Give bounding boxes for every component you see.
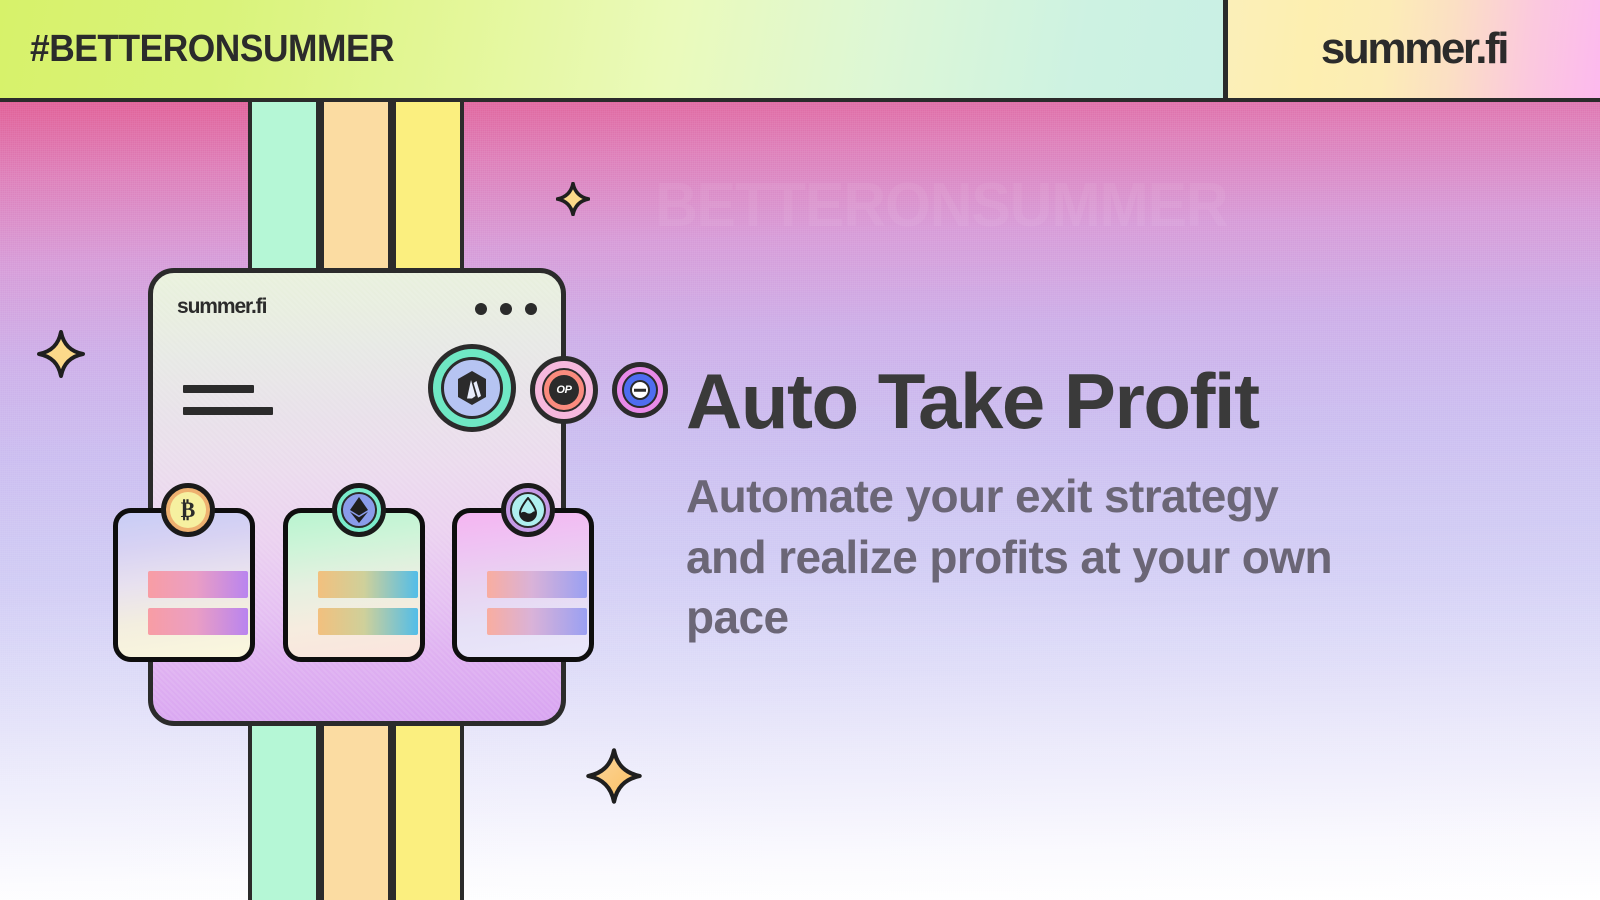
dai-face [510, 492, 546, 528]
menu-line-2 [183, 407, 273, 415]
token-card-bar-2 [487, 608, 587, 635]
copy-block: Auto Take Profit Automate your exit stra… [686, 362, 1366, 648]
bitcoin-coin-icon[interactable]: ₿ [161, 483, 215, 537]
optimism-label: OP [549, 375, 579, 405]
token-card-bar-1 [487, 571, 587, 598]
window-dot-3[interactable] [525, 303, 537, 315]
header-left-panel: #BETTERONSUMMER [0, 0, 1228, 98]
header-right-panel: summer.fi [1228, 0, 1600, 98]
ethereum-diamond-icon [350, 497, 368, 523]
app-window-logo: summer.fi [177, 295, 266, 319]
campaign-hashtag: #BETTERONSUMMER [30, 28, 394, 71]
page-subtitle: Automate your exit strategy and realize … [686, 466, 1366, 648]
header-bar: #BETTERONSUMMER summer.fi [0, 0, 1600, 102]
menu-line-1 [183, 385, 254, 393]
brand-logo: summer.fi [1321, 24, 1507, 74]
token-card-bar-2 [318, 608, 418, 635]
menu-lines-icon [183, 385, 273, 415]
arbitrum-network-icon[interactable] [428, 344, 516, 432]
arbitrum-ring [441, 357, 503, 419]
token-card-bar-2 [148, 608, 248, 635]
base-network-icon[interactable] [612, 362, 668, 418]
sparkle-bottom-icon [586, 748, 642, 809]
token-card-bar-1 [148, 571, 248, 598]
base-ring [622, 372, 658, 408]
dai-coin-icon[interactable] [501, 483, 555, 537]
promo-banner: #BETTERONSUMMER summer.fi BETTERONSUMMER… [0, 0, 1600, 900]
optimism-network-icon[interactable]: OP [530, 356, 598, 424]
bitcoin-symbol: ₿ [170, 492, 206, 528]
optimism-ring: OP [542, 368, 586, 412]
window-dot-1[interactable] [475, 303, 487, 315]
window-dot-2[interactable] [500, 303, 512, 315]
base-glyph-icon [630, 380, 650, 400]
window-controls[interactable] [475, 303, 537, 315]
ethereum-coin-icon[interactable] [332, 483, 386, 537]
background-watermark-text: BETTERONSUMMER [655, 170, 1227, 241]
sparkle-top-icon [556, 182, 590, 221]
arbitrum-glyph-icon [452, 368, 492, 408]
page-title: Auto Take Profit [686, 362, 1366, 440]
ethereum-face [341, 492, 377, 528]
sparkle-left-icon [37, 330, 85, 383]
water-drop-icon [517, 497, 539, 523]
token-card-bar-1 [318, 571, 418, 598]
